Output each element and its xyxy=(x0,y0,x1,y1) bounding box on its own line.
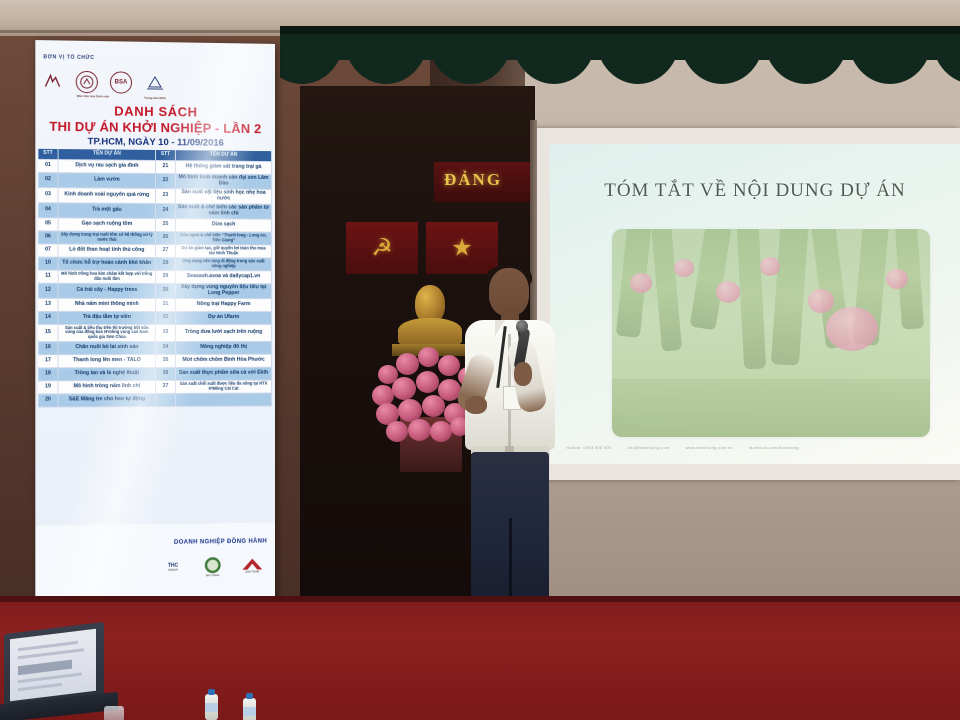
row-name-2: Hệ thống giám sát trang trại gà xyxy=(176,161,272,174)
row-name-2: Sản xuất vật liệu sinh học nhẹ hoa nước xyxy=(176,189,272,204)
row-name: Nhà nấm mini thông minh xyxy=(59,299,156,311)
row-no-2: 24 xyxy=(156,204,176,218)
table-row: 17Thanh long lên men - TALO35Mứt chôm ch… xyxy=(38,355,272,369)
presenter-hand-right xyxy=(514,362,532,386)
sponsor-logo-round: Bến Thành xyxy=(198,555,228,577)
organizer-logo-2: Nhà Văn hóa Sinh viên xyxy=(76,71,98,93)
sponsor-logo-baotoan: BẢO TOÀN xyxy=(237,554,267,576)
table-row: 15Sản xuất & tiêu thụ trên thị trường bộ… xyxy=(38,325,272,342)
row-name: Mô hình trồng nấm linh chi xyxy=(59,381,156,393)
slide-footer-item: info@thanhlong.com xyxy=(627,445,669,450)
sponsor-logos: THC GROUP Bến Thành BẢO TOÀN xyxy=(148,551,267,583)
flag-yellow-star: ★ xyxy=(426,222,498,274)
presenter-hand-left xyxy=(465,396,487,414)
table-row: 14Trà đậu tằm tự viên32Dự án Ufarm xyxy=(38,312,272,325)
banner-title-line2: THI DỰ ÁN KHỞI NGHIỆP - LẦN 2 xyxy=(35,119,275,137)
organizer-logo-4-caption: Trung tâm BSA xyxy=(144,96,166,100)
organizer-logo-4: Trung tâm BSA xyxy=(144,72,166,94)
row-name: Trà đậu tằm tự viên xyxy=(59,312,156,324)
header-name-1: TÊN DỰ ÁN xyxy=(59,149,156,160)
row-name: Tổ chức hỗ trợ hoàn cảnh khó khăn xyxy=(59,257,156,269)
table-row: 19Mô hình trồng nấm linh chi37Sản xuất c… xyxy=(38,380,272,394)
row-name: Thanh long lên men - TALO xyxy=(59,355,156,367)
row-name-2: Dự án giảm tạo, giữ quyền lợi toàn thu m… xyxy=(176,245,272,257)
slide-photo-dragon-fruit xyxy=(612,229,930,437)
row-no: 10 xyxy=(38,257,58,269)
row-no-2: 36 xyxy=(156,368,176,380)
row-name: Trà một gấu xyxy=(59,203,156,218)
row-no: 12 xyxy=(38,284,58,298)
row-no: 17 xyxy=(38,355,58,367)
table-row: 07Lò đốt than hoạt tính thủ công27Dự án … xyxy=(38,244,272,258)
row-name: Làm vườn xyxy=(59,173,156,188)
row-name: Gạo sạch ruộng tôm xyxy=(59,218,156,231)
laptop-screen[interactable] xyxy=(10,629,96,702)
slide-footer-item: Hotline: 0933 000 000 xyxy=(566,445,611,450)
row-no-2: 25 xyxy=(156,219,176,231)
table-row: 05Gạo sạch ruộng tôm25Dừa sạch xyxy=(38,218,272,232)
slide-footer-item: facebook.com/thanhlong xyxy=(749,445,799,450)
standee-banner: ĐƠN VỊ TỔ CHỨC Nhà Văn hóa Sinh viên BSA… xyxy=(35,40,275,604)
sponsor-logo-round-caption: Bến Thành xyxy=(206,574,219,577)
row-no: 19 xyxy=(38,381,58,393)
row-no-2: 29 xyxy=(156,271,176,283)
row-no: 01 xyxy=(38,160,58,172)
row-name: Sản xuất & tiêu thụ trên thị trường bột … xyxy=(59,325,156,341)
flag-hammer-sickle: ☭ xyxy=(346,222,418,274)
slide-title: TÓM TẮT VỀ NỘI DUNG DỰ ÁN xyxy=(550,180,960,202)
row-no-2: 37 xyxy=(156,381,176,393)
row-no-2: 23 xyxy=(156,189,176,203)
row-name-2: Seasash.asoa và dailycap1.vn xyxy=(176,271,272,283)
row-no: 02 xyxy=(38,173,58,187)
row-no-2: 21 xyxy=(156,161,176,173)
organizer-label: ĐƠN VỊ TỔ CHỨC xyxy=(43,54,94,61)
hammer-sickle-icon: ☭ xyxy=(371,234,393,263)
row-name-2: Sản xuất & chế biến các sản phẩm từ nấm … xyxy=(176,204,272,219)
row-no: 15 xyxy=(38,325,58,341)
banner-title-line1: DANH SÁCH xyxy=(35,102,275,120)
table-row: 03Kinh doanh xoài nguyên quả rừng23Sản x… xyxy=(38,188,272,205)
slide-footer-item: www.thanhlong.com.vn xyxy=(686,445,733,450)
sponsor-logo-thc-caption: GROUP xyxy=(168,568,177,571)
row-name: Lò đốt than hoạt tính thủ công xyxy=(59,244,156,256)
row-no: 07 xyxy=(38,244,58,256)
table-row: 12Cà trái cây - Happy trees30Xây dựng vù… xyxy=(38,284,272,299)
organizer-logo-1 xyxy=(41,70,63,92)
project-list-table: STT TÊN DỰ ÁN STT TÊN DỰ ÁN 01Dịch vụ ra… xyxy=(38,149,272,408)
table-row: 10Tổ chức hỗ trợ hoàn cảnh khó khăn28Ứng… xyxy=(38,257,272,271)
row-name-2: Nông trại Happy Farm xyxy=(176,299,272,311)
row-name-2: Mứt chôm chôm Bình Hòa Phước xyxy=(176,355,272,367)
curtain-valance xyxy=(280,26,960,86)
dang-banner-text: ĐẢNG xyxy=(444,170,502,190)
row-no: 13 xyxy=(38,299,58,311)
organizer-logo-2-caption: Nhà Văn hóa Sinh viên xyxy=(77,94,97,98)
row-name-2: Trồng dưa lưới sạch trên ruộng xyxy=(176,325,272,341)
row-name-2: Sản xuất chổi xuất được liệu đa nông tại… xyxy=(176,380,272,392)
dang-banner: ĐẢNG xyxy=(434,162,535,202)
row-no-2: 22 xyxy=(156,174,176,188)
row-no: 16 xyxy=(38,342,58,354)
banner-title-block: DANH SÁCH THI DỰ ÁN KHỞI NGHIỆP - LẦN 2 … xyxy=(35,102,275,149)
row-no: 03 xyxy=(38,188,58,202)
organizer-logo-3: BSA xyxy=(110,71,132,93)
row-name-2: Nông nghiệp đô thị xyxy=(176,342,272,354)
row-name: Trồng lan và lá nghệ thuật xyxy=(59,368,156,380)
sponsor-logo-thc: THC GROUP xyxy=(158,556,188,578)
sponsor-logo-baotoan-caption: BẢO TOÀN xyxy=(246,570,260,573)
table-row: 02Làm vườn22Mô hình kinh doanh sản đại s… xyxy=(38,173,272,190)
star-icon: ★ xyxy=(451,234,473,263)
floor-edge xyxy=(0,596,960,602)
table-row: 06Xây dựng trang trại nuôi tôm có hệ thố… xyxy=(38,231,272,245)
row-name-2: Sản xuất thực phẩm sữa cà với Ekth xyxy=(176,368,272,380)
water-bottle-1 xyxy=(205,694,218,720)
row-name: Kinh doanh xoài nguyên quả rừng xyxy=(59,188,156,203)
row-no: 14 xyxy=(38,312,58,324)
row-no: 18 xyxy=(38,368,58,380)
presenter xyxy=(455,268,565,624)
row-no-2: 35 xyxy=(156,355,176,367)
row-name-2: Xây dựng vùng nguyên liệu tiêu tại Long … xyxy=(176,284,272,298)
header-stt-2: STT xyxy=(156,150,176,160)
header-stt-1: STT xyxy=(38,149,58,159)
row-name: Xây dựng trang trại nuôi tôm có hệ thống… xyxy=(59,231,156,244)
drinking-glass xyxy=(104,706,124,720)
row-no-2: 26 xyxy=(156,232,176,244)
organizer-logo-3-mark: BSA xyxy=(115,79,128,85)
row-name-2 xyxy=(176,393,272,405)
row-no: 20 xyxy=(38,394,58,406)
organizer-logos: Nhà Văn hóa Sinh viên BSA Trung tâm BSA xyxy=(41,64,211,100)
table-row: 16Chăn nuôi bò lai sinh sản34Nông nghiệp… xyxy=(38,342,272,355)
row-name-2: Của ngon & chế biến "Thanh long - Long A… xyxy=(176,232,272,244)
banner-title-line3: TP.HCM, NGÀY 10 - 11/09/2016 xyxy=(35,136,275,150)
sponsor-label: DOANH NGHIỆP ĐỒNG HÀNH xyxy=(174,539,267,546)
floor-red-carpet xyxy=(0,596,960,720)
row-no-2: 34 xyxy=(156,342,176,354)
table-row: 04Trà một gấu24Sản xuất & chế biến các s… xyxy=(38,203,272,219)
row-no-2: 32 xyxy=(156,312,176,324)
row-no: 06 xyxy=(38,231,58,243)
row-name: S&E Măng tre cho heo tự động xyxy=(59,394,156,406)
row-name: Chăn nuôi bò lai sinh sản xyxy=(59,342,156,354)
row-no-2: 33 xyxy=(156,325,176,341)
row-name: Dịch vụ rau sạch gia đình xyxy=(59,160,156,173)
projector-screen: TÓM TẮT VỀ NỘI DUNG DỰ ÁN H xyxy=(536,128,960,480)
banner-footer: DOANH NGHIỆP ĐỒNG HÀNH THC GROUP Bến Thà… xyxy=(35,523,275,604)
bust-shoulders xyxy=(398,318,462,346)
row-no-2: 30 xyxy=(156,284,176,298)
slide-footer: Hotline: 0933 000 000 info@thanhlong.com… xyxy=(566,445,944,450)
row-name-2: Ứng dụng nền tảng di động trong sản xuất… xyxy=(176,258,272,270)
row-no: 05 xyxy=(38,218,58,230)
row-name-2: Dự án Ufarm xyxy=(176,312,272,324)
row-no: 11 xyxy=(38,270,58,282)
row-no-2 xyxy=(156,394,176,406)
row-name-2: Dừa sạch xyxy=(176,219,272,231)
table-row: 13Nhà nấm mini thông minh31Nông trại Hap… xyxy=(38,299,272,312)
table-row: 20S&E Măng tre cho heo tự động xyxy=(38,393,272,407)
water-bottle-2 xyxy=(243,698,256,720)
presenter-head xyxy=(489,268,529,316)
row-no-2: 27 xyxy=(156,245,176,257)
header-name-2: TÊN DỰ ÁN xyxy=(176,150,272,161)
row-no-2: 28 xyxy=(156,258,176,270)
row-name: Mô hình trồng hoa kim châm kết hợp với t… xyxy=(59,271,156,283)
table-row: 11Mô hình trồng hoa kim châm kết hợp với… xyxy=(38,270,272,284)
table-row: 18Trồng lan và lá nghệ thuật36Sản xuất t… xyxy=(38,368,272,382)
stage-scene: ĐẢNG ☭ ★ TÓM TẮT VỀ NỘI DUNG DỰ ÁN xyxy=(0,0,960,720)
row-name: Cà trái cây - Happy trees xyxy=(59,284,156,298)
row-no: 04 xyxy=(38,203,58,217)
presentation-slide: TÓM TẮT VỀ NỘI DUNG DỰ ÁN H xyxy=(550,144,960,464)
row-name-2: Mô hình kinh doanh sản đại sen Lâm Đào xyxy=(176,174,272,189)
row-no-2: 31 xyxy=(156,299,176,311)
banner-decoration-bottom xyxy=(35,530,166,604)
